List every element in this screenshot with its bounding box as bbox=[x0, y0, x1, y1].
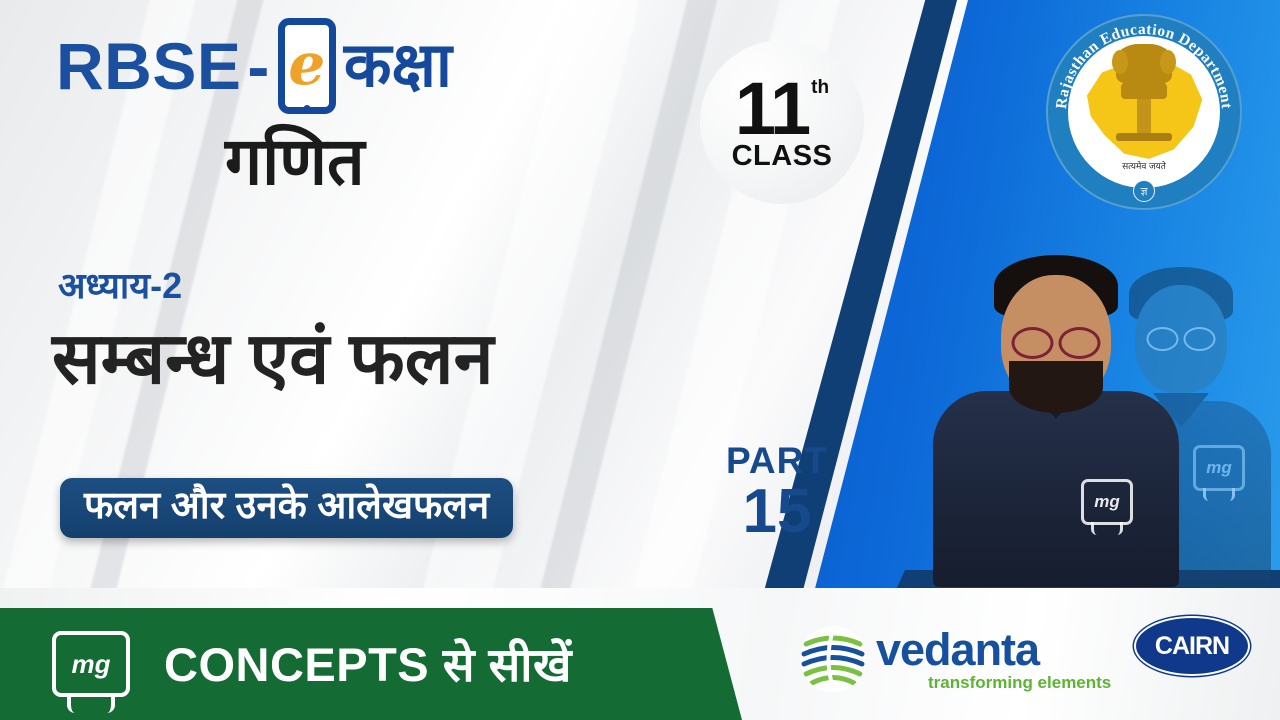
brand-kaksha: कक्षा bbox=[344, 35, 452, 97]
class-badge: 11 th CLASS bbox=[700, 40, 864, 204]
seal-bottom-badge-icon: ज्ञ bbox=[1133, 180, 1155, 202]
phone-e-letter: e bbox=[288, 35, 325, 93]
seal-motto: सत्यमेव जयते bbox=[1122, 159, 1166, 172]
brand-header: RBSE - e कक्षा bbox=[56, 18, 452, 114]
instructor-photos: mg mg bbox=[905, 232, 1280, 587]
mg-chest-logo-icon: mg bbox=[1081, 479, 1133, 525]
class-number: 11 bbox=[735, 72, 809, 146]
rajasthan-education-department-seal: Rajasthan Education Department सत्यमेव ज… bbox=[1046, 14, 1242, 210]
thumbnail-canvas: mg mg RBSE - e कक्षा गणित 11 th CLA bbox=[0, 0, 1280, 720]
seal-inner-disc: सत्यमेव जयते bbox=[1068, 36, 1220, 188]
class-ordinal-suffix: th bbox=[811, 78, 829, 97]
mg-chest-logo-icon: mg bbox=[1193, 445, 1245, 491]
part-label: PART bbox=[726, 442, 828, 479]
vedanta-name: vedanta bbox=[876, 627, 1111, 672]
vedanta-tagline: transforming elements bbox=[928, 674, 1111, 691]
mg-blackboard-icon: mg bbox=[52, 631, 130, 697]
concepts-tagline: CONCEPTS से सीखें bbox=[164, 641, 572, 688]
concepts-tagline-en: CONCEPTS bbox=[164, 638, 429, 691]
vedanta-logo: vedanta transforming elements bbox=[800, 626, 1111, 692]
topic-badge: फलन और उनके आलेखफलन bbox=[60, 478, 513, 538]
class-word: CLASS bbox=[732, 140, 833, 173]
ashoka-emblem-icon bbox=[1113, 44, 1175, 148]
concepts-tagline-hi: से सीखें bbox=[443, 638, 572, 691]
chapter-number: अध्याय-2 bbox=[58, 268, 182, 304]
cairn-logo: CAIRN bbox=[1134, 616, 1250, 676]
front-instructor: mg bbox=[933, 249, 1179, 587]
part-number: 15 bbox=[726, 481, 828, 543]
subject-title: गणित bbox=[225, 128, 365, 194]
vedanta-globe-icon bbox=[800, 626, 866, 692]
chapter-title: सम्बन्ध एवं फलन bbox=[52, 322, 494, 398]
concepts-banner: mg CONCEPTS से सीखें bbox=[0, 608, 742, 720]
brand-name: RBSE bbox=[56, 33, 241, 99]
cairn-name: CAIRN bbox=[1155, 632, 1229, 661]
e-phone-icon: e bbox=[278, 18, 336, 114]
part-indicator: PART 15 bbox=[726, 442, 828, 543]
brand-separator: - bbox=[247, 33, 269, 99]
